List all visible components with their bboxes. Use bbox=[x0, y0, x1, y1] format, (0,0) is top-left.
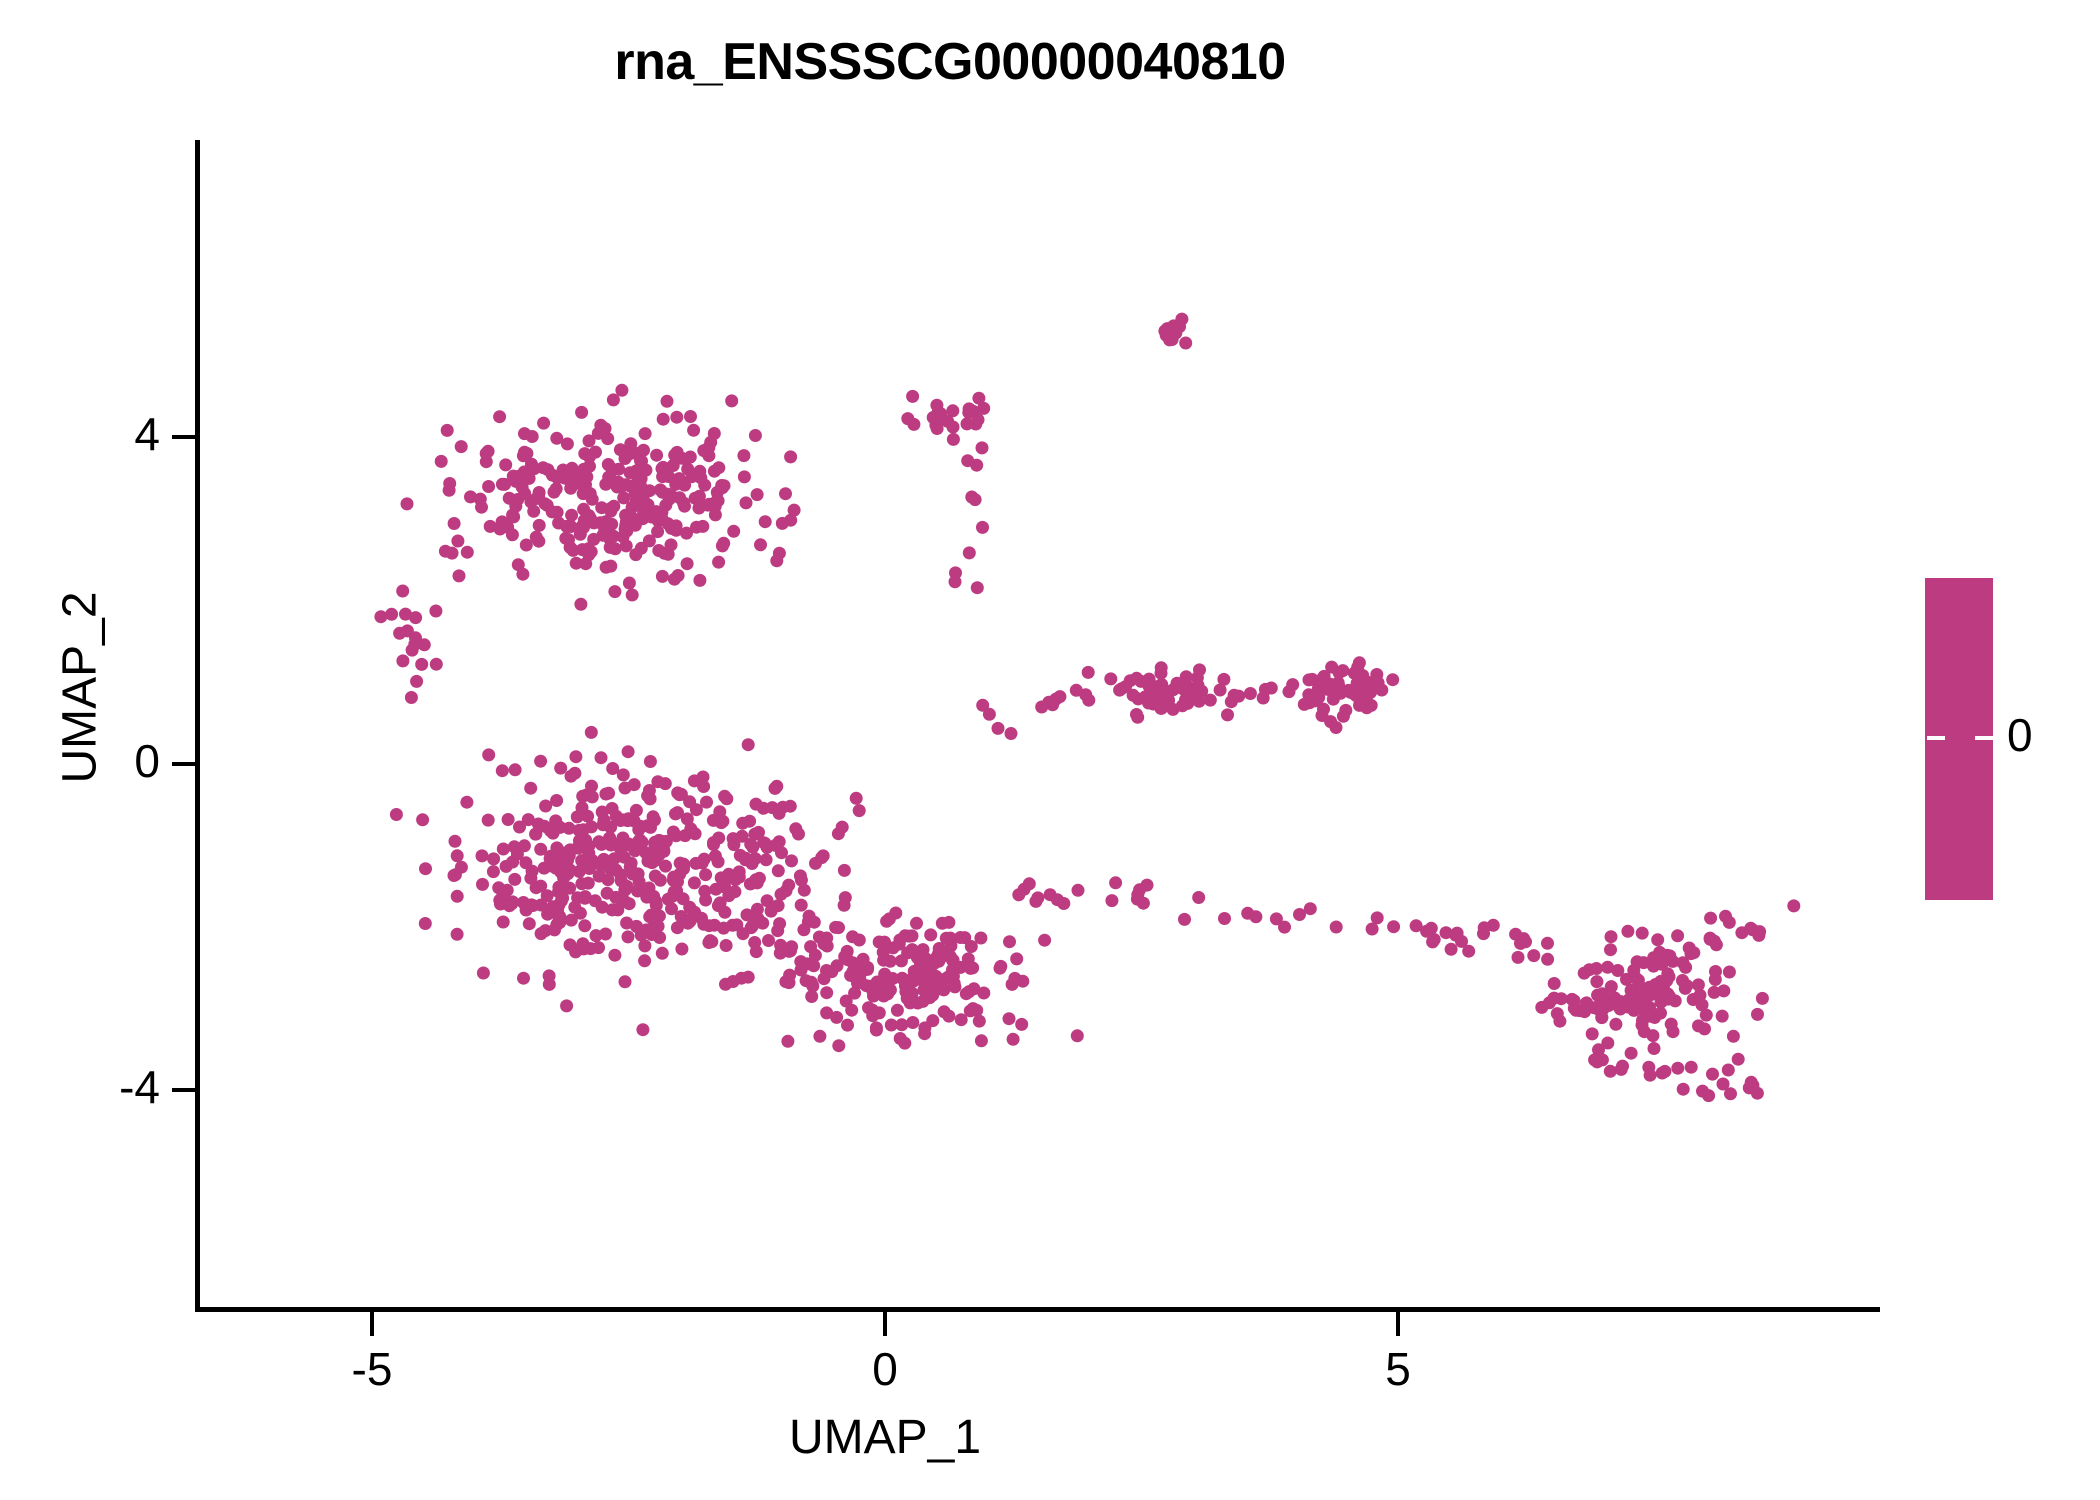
scatter-point bbox=[619, 519, 632, 532]
scatter-point bbox=[609, 838, 622, 851]
scatter-point bbox=[662, 488, 675, 501]
scatter-point bbox=[1386, 673, 1399, 686]
scatter-point bbox=[972, 413, 985, 426]
scatter-point bbox=[737, 449, 750, 462]
scatter-point bbox=[1303, 696, 1316, 709]
scatter-point bbox=[668, 885, 681, 898]
scatter-point bbox=[476, 878, 489, 891]
scatter-point bbox=[841, 1019, 854, 1032]
scatter-point bbox=[839, 891, 852, 904]
scatter-point bbox=[675, 452, 688, 465]
scatter-point bbox=[955, 1013, 968, 1026]
scatter-point bbox=[673, 477, 686, 490]
scatter-point bbox=[1723, 916, 1736, 929]
scatter-point bbox=[740, 496, 753, 509]
scatter-point bbox=[551, 904, 564, 917]
scatter-point bbox=[530, 881, 543, 894]
scatter-point bbox=[873, 936, 886, 949]
scatter-point bbox=[494, 523, 507, 536]
scatter-point bbox=[574, 528, 587, 541]
scatter-point bbox=[847, 970, 860, 983]
scatter-point bbox=[785, 854, 798, 867]
scatter-point bbox=[455, 861, 468, 874]
scatter-point bbox=[509, 496, 522, 509]
scatter-point bbox=[1630, 972, 1643, 985]
scatter-point bbox=[1387, 920, 1400, 933]
scatter-point bbox=[1627, 964, 1640, 977]
scatter-point bbox=[563, 822, 576, 835]
scatter-point bbox=[1716, 1010, 1729, 1023]
scatter-point bbox=[1614, 995, 1627, 1008]
scatter-point bbox=[958, 931, 971, 944]
scatter-point bbox=[653, 910, 666, 923]
scatter-point bbox=[1661, 987, 1674, 1000]
scatter-point bbox=[579, 478, 592, 491]
scatter-point bbox=[1006, 978, 1019, 991]
scatter-point bbox=[598, 522, 611, 535]
scatter-point bbox=[518, 446, 531, 459]
scatter-point bbox=[1179, 683, 1192, 696]
scatter-point bbox=[697, 771, 710, 784]
scatter-point bbox=[1706, 1068, 1719, 1081]
scatter-point bbox=[1551, 1007, 1564, 1020]
scatter-point bbox=[1609, 998, 1622, 1011]
scatter-point bbox=[1324, 715, 1337, 728]
scatter-point bbox=[1622, 1001, 1635, 1014]
scatter-point bbox=[795, 899, 808, 912]
scatter-point bbox=[923, 991, 936, 1004]
scatter-point bbox=[509, 763, 522, 776]
scatter-point bbox=[903, 974, 916, 987]
scatter-point bbox=[582, 840, 595, 853]
scatter-point bbox=[1354, 685, 1367, 698]
scatter-point bbox=[487, 865, 500, 878]
scatter-point bbox=[583, 460, 596, 473]
x-tick-mark bbox=[883, 1312, 887, 1336]
scatter-point bbox=[530, 492, 543, 505]
scatter-point bbox=[1337, 710, 1350, 723]
scatter-point bbox=[805, 976, 818, 989]
scatter-point bbox=[1286, 678, 1299, 691]
scatter-point bbox=[451, 890, 464, 903]
scatter-point bbox=[1332, 680, 1345, 693]
scatter-point bbox=[597, 853, 610, 866]
scatter-point bbox=[476, 849, 489, 862]
scatter-point bbox=[619, 782, 632, 795]
scatter-point bbox=[748, 936, 761, 949]
scatter-point bbox=[633, 473, 646, 486]
scatter-point bbox=[671, 921, 684, 934]
scatter-point bbox=[961, 417, 974, 430]
colorbar-legend[interactable]: 0 bbox=[1925, 578, 2095, 908]
scatter-point bbox=[1031, 891, 1044, 904]
scatter-point bbox=[656, 486, 669, 499]
scatter-point bbox=[746, 857, 759, 870]
scatter-point bbox=[1680, 979, 1693, 992]
scatter-point bbox=[408, 638, 421, 651]
scatter-point bbox=[1162, 328, 1175, 341]
scatter-point bbox=[608, 852, 621, 865]
scatter-point bbox=[709, 508, 722, 521]
scatter-point bbox=[1132, 692, 1145, 705]
scatter-point bbox=[559, 532, 572, 545]
scatter-point bbox=[622, 448, 635, 461]
scatter-point bbox=[694, 471, 707, 484]
scatter-point bbox=[455, 440, 468, 453]
scatter-point bbox=[543, 969, 556, 982]
scatter-point bbox=[1652, 980, 1665, 993]
scatter-point bbox=[829, 921, 842, 934]
scatter-point bbox=[715, 816, 728, 829]
scatter-point bbox=[1477, 927, 1490, 940]
scatter-point bbox=[641, 888, 654, 901]
scatter-point bbox=[502, 813, 515, 826]
scatter-point bbox=[608, 949, 621, 962]
scatter-point bbox=[623, 577, 636, 590]
scatter-point bbox=[594, 419, 607, 432]
scatter-point bbox=[848, 987, 861, 1000]
scatter-point bbox=[899, 929, 912, 942]
scatter-point bbox=[652, 544, 665, 557]
scatter-point bbox=[947, 433, 960, 446]
scatter-point bbox=[1643, 981, 1656, 994]
scatter-point bbox=[560, 999, 573, 1012]
scatter-point bbox=[1710, 938, 1723, 951]
scatter-point bbox=[750, 945, 763, 958]
scatter-point bbox=[794, 869, 807, 882]
scatter-point bbox=[508, 873, 521, 886]
scatter-point bbox=[565, 770, 578, 783]
scatter-point bbox=[543, 978, 556, 991]
scatter-point bbox=[579, 834, 592, 847]
scatter-point bbox=[1158, 325, 1171, 338]
scatter-point bbox=[687, 424, 700, 437]
scatter-point bbox=[1625, 984, 1638, 997]
scatter-point bbox=[650, 449, 663, 462]
scatter-point bbox=[646, 856, 659, 869]
scatter-point bbox=[769, 782, 782, 795]
scatter-point bbox=[1353, 673, 1366, 686]
scatter-point bbox=[603, 532, 616, 545]
scatter-point bbox=[1683, 942, 1696, 955]
scatter-point bbox=[1347, 687, 1360, 700]
scatter-point bbox=[681, 463, 694, 476]
scatter-point bbox=[947, 970, 960, 983]
scatter-point bbox=[1072, 884, 1085, 897]
scatter-point bbox=[774, 947, 787, 960]
scatter-point bbox=[871, 976, 884, 989]
scatter-point bbox=[615, 874, 628, 887]
scatter-point bbox=[1180, 670, 1193, 683]
scatter-point bbox=[1756, 992, 1769, 1005]
scatter-point bbox=[891, 1004, 904, 1017]
scatter-point bbox=[717, 537, 730, 550]
scatter-point bbox=[573, 865, 586, 878]
scatter-point bbox=[534, 755, 547, 768]
scatter-point bbox=[675, 943, 688, 956]
scatter-point bbox=[628, 447, 641, 460]
scatter-point bbox=[578, 942, 591, 955]
scatter-point bbox=[396, 654, 409, 667]
scatter-point bbox=[576, 937, 589, 950]
scatter-point bbox=[647, 890, 660, 903]
scatter-point bbox=[679, 829, 692, 842]
scatter-point bbox=[1179, 677, 1192, 690]
scatter-point bbox=[506, 528, 519, 541]
scatter-point bbox=[498, 478, 511, 491]
scatter-point bbox=[1325, 661, 1338, 674]
scatter-point bbox=[635, 486, 648, 499]
scatter-point bbox=[585, 545, 598, 558]
scatter-point bbox=[630, 804, 643, 817]
scatter-point bbox=[628, 815, 641, 828]
scatter-point bbox=[885, 1019, 898, 1032]
scatter-point bbox=[844, 969, 857, 982]
scatter-point bbox=[926, 989, 939, 1002]
scatter-point bbox=[795, 874, 808, 887]
scatter-point bbox=[518, 487, 531, 500]
scatter-point bbox=[1104, 672, 1117, 685]
scatter-point bbox=[673, 788, 686, 801]
scatter-point bbox=[1008, 972, 1021, 985]
scatter-point bbox=[662, 470, 675, 483]
scatter-point bbox=[710, 494, 723, 507]
scatter-point bbox=[1445, 943, 1458, 956]
scatter-point bbox=[1626, 996, 1639, 1009]
scatter-point bbox=[1162, 694, 1175, 707]
scatter-point bbox=[532, 490, 545, 503]
scatter-point bbox=[967, 982, 980, 995]
scatter-point bbox=[1660, 974, 1673, 987]
scatter-point bbox=[482, 445, 495, 458]
scatter-point bbox=[555, 846, 568, 859]
scatter-point bbox=[496, 478, 509, 491]
scatter-point bbox=[1746, 923, 1759, 936]
scatter-point bbox=[595, 751, 608, 764]
scatter-point bbox=[940, 972, 953, 985]
scatter-point bbox=[1687, 993, 1700, 1006]
scatter-point bbox=[648, 838, 661, 851]
scatter-point bbox=[620, 515, 633, 528]
scatter-point bbox=[1643, 1001, 1656, 1014]
scatter-point bbox=[571, 477, 584, 490]
scatter-point bbox=[705, 935, 718, 948]
scatter-point bbox=[582, 512, 595, 525]
scatter-point bbox=[610, 810, 623, 823]
scatter-point bbox=[873, 1006, 886, 1019]
scatter-point bbox=[711, 486, 724, 499]
scatter-point bbox=[1605, 980, 1618, 993]
scatter-point bbox=[1722, 1064, 1735, 1077]
scatter-point bbox=[1330, 721, 1343, 734]
scatter-point bbox=[688, 774, 701, 787]
scatter-point bbox=[611, 481, 624, 494]
scatter-point bbox=[932, 406, 945, 419]
scatter-point bbox=[668, 573, 681, 586]
scatter-point bbox=[699, 894, 712, 907]
scatter-point bbox=[596, 901, 609, 914]
scatter-point bbox=[1351, 661, 1364, 674]
scatter-point bbox=[594, 858, 607, 871]
scatter-point bbox=[645, 928, 658, 941]
scatter-point bbox=[1570, 1004, 1583, 1017]
scatter-point bbox=[1327, 687, 1340, 700]
scatter-point bbox=[1372, 676, 1385, 689]
scatter-point bbox=[580, 470, 593, 483]
scatter-point bbox=[672, 569, 685, 582]
scatter-point bbox=[934, 407, 947, 420]
scatter-point bbox=[451, 849, 464, 862]
scatter-point bbox=[581, 810, 594, 823]
scatter-point bbox=[633, 875, 646, 888]
scatter-point bbox=[1543, 996, 1556, 1009]
scatter-point bbox=[565, 476, 578, 489]
scatter-point bbox=[396, 585, 409, 598]
scatter-point bbox=[622, 745, 635, 758]
scatter-point bbox=[592, 427, 605, 440]
scatter-point bbox=[983, 708, 996, 721]
scatter-point bbox=[857, 953, 870, 966]
scatter-point bbox=[618, 851, 631, 864]
scatter-point bbox=[641, 789, 654, 802]
scatter-point bbox=[1679, 982, 1692, 995]
scatter-point bbox=[762, 934, 775, 947]
scatter-point bbox=[929, 955, 942, 968]
x-axis-title: UMAP_1 bbox=[195, 1410, 1575, 1465]
scatter-point bbox=[655, 506, 668, 519]
scatter-point bbox=[932, 980, 945, 993]
scatter-point bbox=[550, 794, 563, 807]
scatter-point bbox=[480, 447, 493, 460]
scatter-point bbox=[1082, 666, 1095, 679]
scatter-point bbox=[908, 965, 921, 978]
scatter-point bbox=[1743, 1081, 1756, 1094]
scatter-point bbox=[805, 990, 818, 1003]
scatter-point bbox=[1113, 684, 1126, 697]
scatter-point bbox=[674, 857, 687, 870]
scatter-point bbox=[901, 992, 914, 1005]
scatter-point bbox=[1354, 672, 1367, 685]
scatter-point bbox=[587, 533, 600, 546]
scatter-point bbox=[1278, 921, 1291, 934]
scatter-point bbox=[665, 902, 678, 915]
scatter-point bbox=[1318, 680, 1331, 693]
scatter-point bbox=[1270, 912, 1283, 925]
scatter-point bbox=[1637, 956, 1650, 969]
scatter-point bbox=[603, 831, 616, 844]
scatter-point bbox=[593, 870, 606, 883]
scatter-point bbox=[916, 995, 929, 1008]
scatter-point bbox=[1042, 696, 1055, 709]
scatter-point bbox=[1787, 899, 1800, 912]
scatter-point bbox=[813, 931, 826, 944]
scatter-point bbox=[1654, 975, 1667, 988]
scatter-point bbox=[568, 472, 581, 485]
scatter-point bbox=[698, 853, 711, 866]
scatter-point bbox=[670, 884, 683, 897]
scatter-point bbox=[741, 908, 754, 921]
scatter-point bbox=[673, 472, 686, 485]
scatter-point bbox=[684, 915, 697, 928]
scatter-point bbox=[619, 523, 632, 536]
scatter-point bbox=[592, 835, 605, 848]
scatter-point bbox=[1535, 1001, 1548, 1014]
scatter-point bbox=[749, 429, 762, 442]
scatter-point bbox=[586, 854, 599, 867]
scatter-point bbox=[1303, 673, 1316, 686]
scatter-point bbox=[770, 780, 783, 793]
scatter-point bbox=[635, 929, 648, 942]
scatter-point bbox=[1440, 926, 1453, 939]
scatter-point bbox=[820, 964, 833, 977]
scatter-point bbox=[619, 452, 632, 465]
scatter-point bbox=[671, 806, 684, 819]
scatter-point bbox=[1167, 703, 1180, 716]
scatter-point bbox=[1029, 895, 1042, 908]
scatter-point bbox=[685, 470, 698, 483]
scatter-point bbox=[1751, 1087, 1764, 1100]
scatter-point bbox=[628, 778, 641, 791]
scatter-point bbox=[526, 430, 539, 443]
scatter-point bbox=[451, 928, 464, 941]
scatter-point bbox=[965, 940, 978, 953]
scatter-point bbox=[648, 854, 661, 867]
scatter-point bbox=[677, 858, 690, 871]
scatter-point bbox=[733, 865, 746, 878]
scatter-point bbox=[851, 977, 864, 990]
scatter-point bbox=[1627, 1000, 1640, 1013]
scatter-point bbox=[898, 1037, 911, 1050]
scatter-point bbox=[943, 970, 956, 983]
scatter-point bbox=[1519, 935, 1532, 948]
scatter-point bbox=[782, 879, 795, 892]
scatter-point bbox=[769, 839, 782, 852]
scatter-point bbox=[947, 421, 960, 434]
scatter-point bbox=[707, 836, 720, 849]
scatter-point bbox=[1257, 692, 1270, 705]
scatter-point bbox=[861, 961, 874, 974]
scatter-point bbox=[817, 937, 830, 950]
scatter-point bbox=[517, 972, 530, 985]
scatter-point bbox=[1356, 683, 1369, 696]
scatter-point bbox=[1169, 327, 1182, 340]
scatter-point bbox=[907, 418, 920, 431]
scatter-point bbox=[1621, 925, 1634, 938]
scatter-point bbox=[441, 424, 454, 437]
scatter-point bbox=[547, 827, 560, 840]
scatter-point bbox=[537, 461, 550, 474]
scatter-point bbox=[576, 543, 589, 556]
scatter-point bbox=[1654, 987, 1667, 1000]
scatter-point bbox=[820, 1006, 833, 1019]
scatter-point bbox=[643, 784, 656, 797]
scatter-point bbox=[1591, 1055, 1604, 1068]
scatter-point bbox=[644, 755, 657, 768]
scatter-point bbox=[783, 976, 796, 989]
scatter-point bbox=[557, 464, 570, 477]
scatter-point bbox=[745, 921, 758, 934]
scatter-point bbox=[553, 912, 566, 925]
scatter-point bbox=[670, 411, 683, 424]
scatter-point bbox=[1163, 333, 1176, 346]
scatter-point bbox=[1130, 672, 1143, 685]
scatter-point bbox=[681, 917, 694, 930]
scatter-point bbox=[751, 876, 764, 889]
scatter-point bbox=[550, 848, 563, 861]
scatter-point bbox=[1717, 1078, 1730, 1091]
scatter-point bbox=[847, 956, 860, 969]
scatter-point bbox=[867, 990, 880, 1003]
